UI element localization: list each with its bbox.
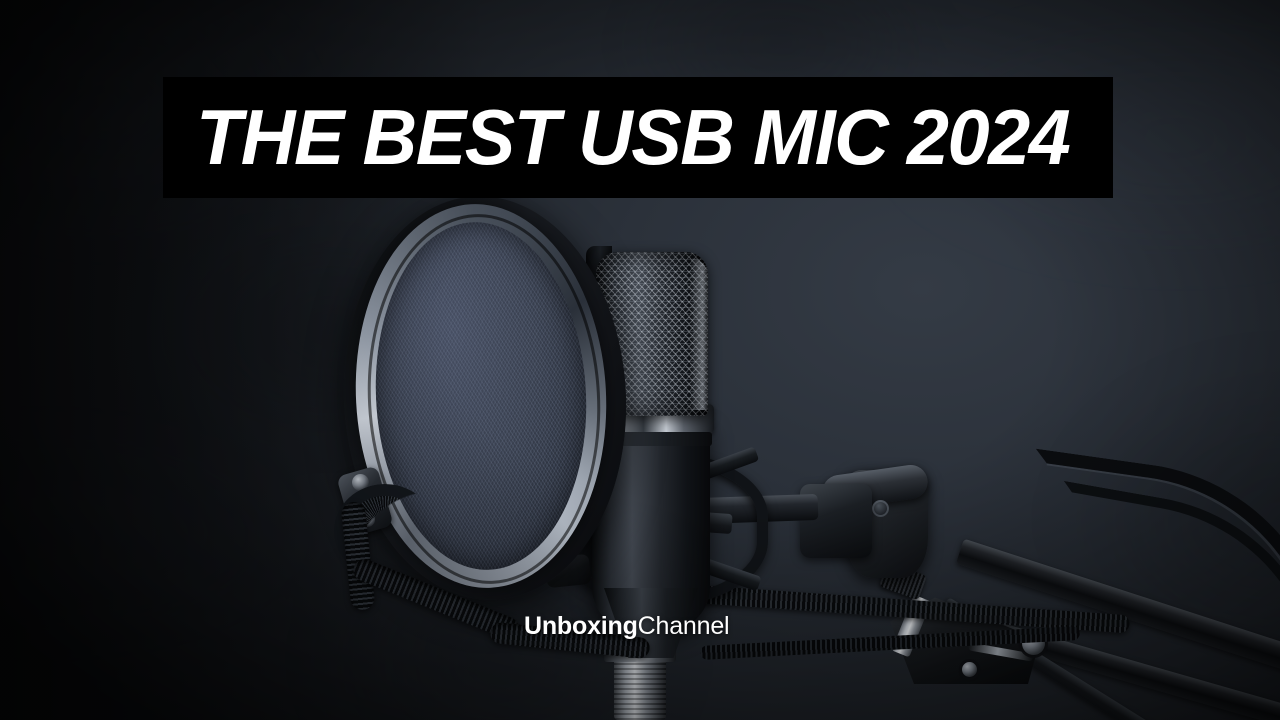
- page-title: THE BEST USB MIC 2024: [196, 82, 1069, 192]
- watermark-light-part: Channel: [638, 612, 730, 640]
- channel-watermark: UnboxingChannel: [524, 614, 729, 639]
- watermark-bold-part: Unboxing: [524, 612, 638, 640]
- thumbnail-canvas: THE BEST USB MIC 2024 UnboxingChannel: [0, 0, 1280, 720]
